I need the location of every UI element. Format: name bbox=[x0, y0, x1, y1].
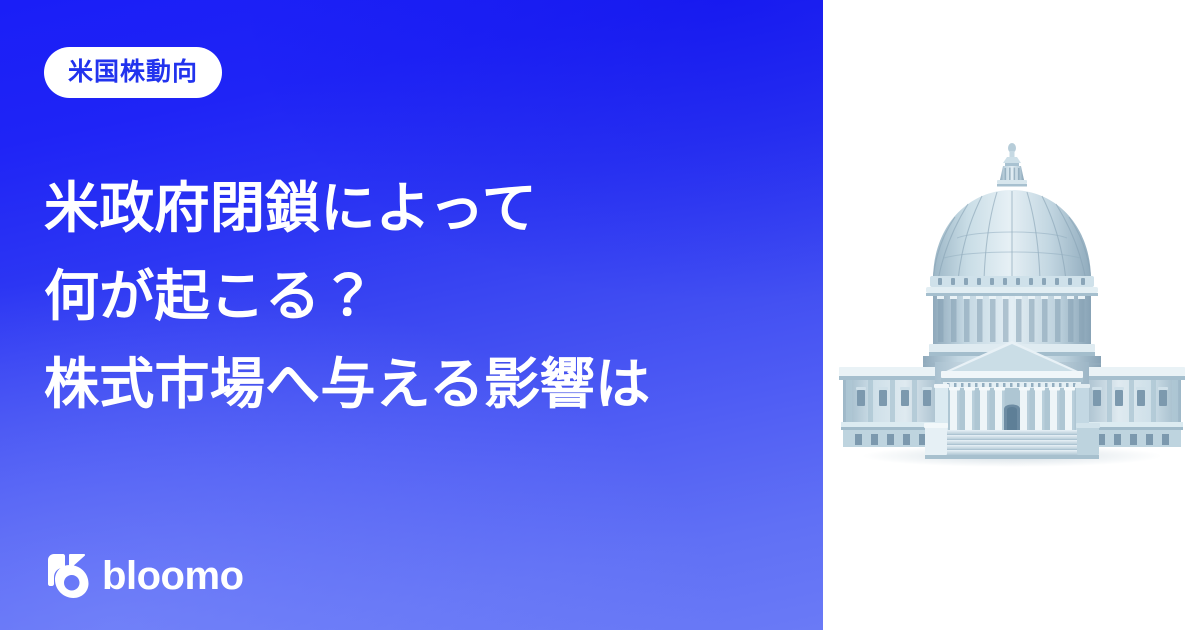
og-image-card: 米国株動向 米政府閉鎖によって 何が起こる？ 株式市場へ与える影響は bbox=[0, 0, 1200, 630]
headline-line-2: 何が起こる？ bbox=[44, 252, 784, 340]
category-badge-label: 米国株動向 bbox=[68, 60, 198, 85]
right-white-panel bbox=[823, 0, 1200, 630]
headline-line-3: 株式市場へ与える影響は bbox=[44, 340, 784, 428]
category-badge: 米国株動向 bbox=[44, 47, 222, 98]
bloomo-wordmark: bloomo bbox=[102, 556, 244, 596]
headline-line-1: 米政府閉鎖によって bbox=[44, 164, 784, 252]
bloomo-logo-mark-icon bbox=[47, 554, 89, 598]
left-blue-panel: 米国株動向 米政府閉鎖によって 何が起こる？ 株式市場へ与える影響は bbox=[0, 0, 823, 630]
headline: 米政府閉鎖によって 何が起こる？ 株式市場へ与える影響は bbox=[44, 164, 784, 428]
left-panel-content: 米国株動向 米政府閉鎖によって 何が起こる？ 株式市場へ与える影響は bbox=[0, 0, 823, 630]
bloomo-logo: bloomo bbox=[47, 554, 244, 598]
